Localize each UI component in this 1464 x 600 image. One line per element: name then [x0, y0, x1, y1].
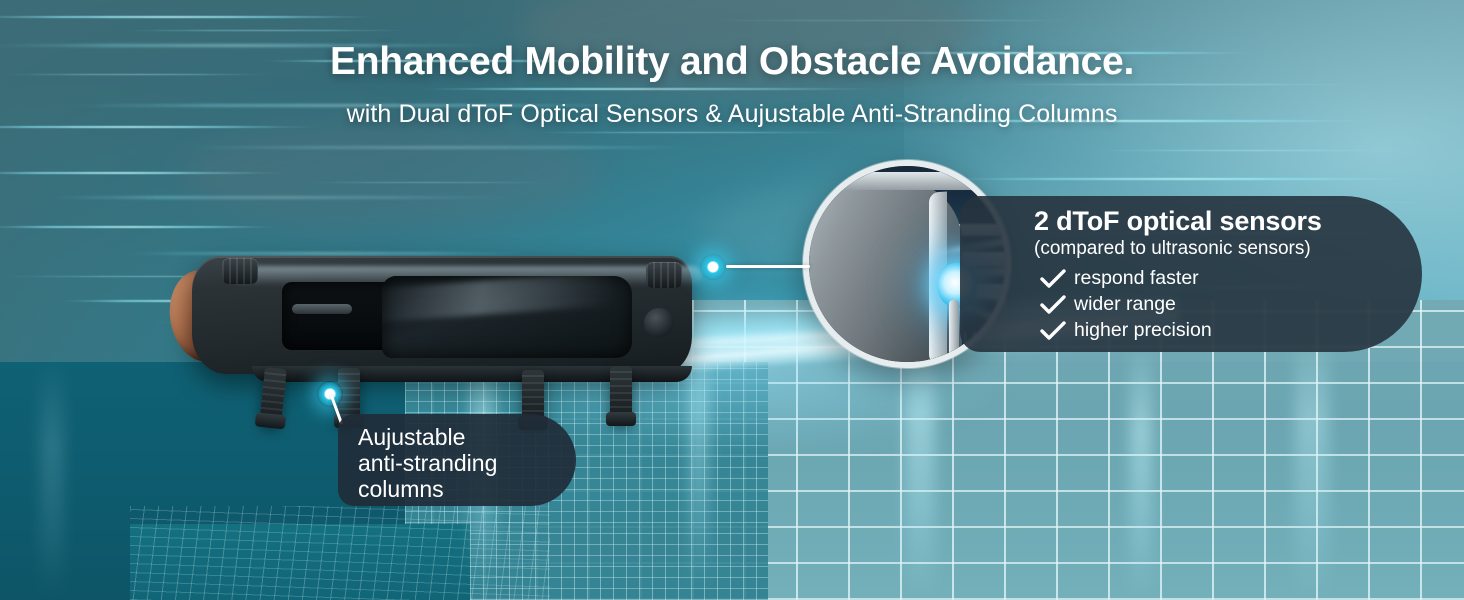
columns-callout-panel: Aujustable anti-stranding columns	[338, 414, 576, 506]
check-icon	[1040, 321, 1066, 341]
benefit-label: respond faster	[1074, 267, 1199, 290]
page-subtitle: with Dual dToF Optical Sensors & Aujusta…	[0, 100, 1464, 129]
sensor-callout-title: 2 dToF optical sensors	[1034, 206, 1322, 237]
sensor-leader-line	[726, 265, 810, 268]
columns-callout-line: Aujustable	[358, 424, 497, 450]
page-title: Enhanced Mobility and Obstacle Avoidance…	[0, 40, 1464, 85]
robot-glass-panel	[382, 276, 632, 358]
columns-callout-line: anti-stranding	[358, 450, 497, 476]
robot-side-clip	[646, 262, 682, 288]
glass-highlight	[382, 276, 613, 322]
check-icon	[1040, 269, 1066, 289]
benefit-label: higher precision	[1074, 319, 1212, 342]
light-caustic	[1295, 320, 1329, 600]
pool-cleaning-robot	[170, 248, 715, 388]
robot-side-clip	[222, 258, 258, 284]
list-item: higher precision	[1040, 318, 1212, 343]
robot-body	[192, 256, 692, 374]
list-item: respond faster	[1040, 266, 1212, 291]
robot-port	[644, 308, 674, 338]
columns-marker-dot	[317, 381, 343, 407]
benefit-label: wider range	[1074, 293, 1176, 316]
list-item: wider range	[1040, 292, 1212, 317]
anti-stranding-column	[610, 366, 632, 422]
light-caustic	[40, 360, 64, 600]
sensor-callout-subtitle: (compared to ultrasonic sensors)	[1034, 238, 1311, 260]
sensor-benefit-list: respond faster wider range higher precis…	[1040, 266, 1212, 344]
sensor-callout-panel: 2 dToF optical sensors (compared to ultr…	[960, 196, 1422, 352]
product-feature-banner: Enhanced Mobility and Obstacle Avoidance…	[0, 0, 1464, 600]
sensor-marker-dot	[700, 254, 726, 280]
anti-stranding-column	[259, 367, 287, 425]
columns-callout-line: columns	[358, 476, 497, 502]
robot-handle	[292, 304, 352, 314]
check-icon	[1040, 295, 1066, 315]
